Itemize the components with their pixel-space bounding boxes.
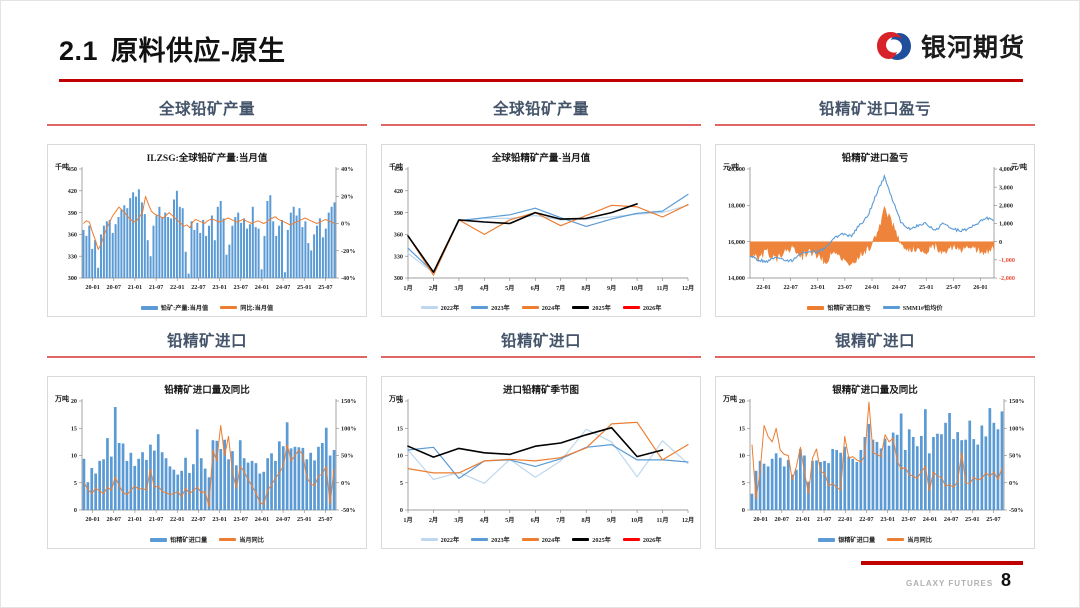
svg-text:25-01: 25-01 [297,516,311,523]
legend-item[interactable]: 2024年 [522,303,561,312]
svg-text:10: 10 [397,452,403,459]
footer-brand: GALAXY FUTURES [906,579,993,588]
panel-heading-underline [715,356,1035,358]
svg-text:100%: 100% [341,425,356,432]
svg-text:20: 20 [71,398,77,405]
chart-legend: 铅精矿进口盈亏SMM1#铅均价 [716,303,1034,312]
legend-swatch [572,538,589,540]
legend-item[interactable]: 2025年 [572,303,611,312]
svg-text:0%: 0% [1009,480,1018,487]
svg-text:20%: 20% [341,193,353,200]
legend-label: 2023年 [491,535,510,544]
svg-text:7月: 7月 [556,516,565,524]
legend-item[interactable]: 2023年 [471,535,510,544]
chart-title: 铅精矿进口盈亏 [716,150,1034,164]
panel-heading-underline [47,124,367,126]
legend-label: 2026年 [643,303,662,312]
svg-text:-20%: -20% [341,248,355,255]
chart-container[interactable]: 20,00018,00016,00014,0004,0003,0002,0001… [715,144,1035,317]
slide-header: 2.1原料供应-原生 银河期货 [1,1,1080,87]
svg-text:12月: 12月 [682,284,694,292]
chart-panel-4: 铅精矿进口20151050150%100%50%0%-50%20-0120-07… [47,329,367,549]
svg-text:2月: 2月 [429,516,438,524]
legend-label: 铅矿:产量:当月值 [161,303,208,312]
svg-text:9月: 9月 [607,516,616,524]
svg-text:23-01: 23-01 [880,516,894,523]
panel-heading-underline [381,124,701,126]
svg-text:11月: 11月 [657,284,669,292]
svg-text:330: 330 [394,253,403,260]
svg-text:420: 420 [394,188,403,195]
svg-text:0%: 0% [341,480,350,487]
svg-text:21-07: 21-07 [149,516,163,523]
svg-text:5月: 5月 [505,516,514,524]
y-axis-unit: 万吨 [723,394,737,404]
svg-text:24-01: 24-01 [255,516,269,523]
svg-text:5: 5 [400,480,403,487]
chart-panel-5: 铅精矿进口201510501月2月3月4月5月6月7月8月9月10月11月12月… [381,329,701,549]
svg-text:0: 0 [74,507,77,514]
svg-text:25-07: 25-07 [986,516,1000,523]
legend-item[interactable]: 2022年 [421,535,460,544]
svg-text:5月: 5月 [505,284,514,292]
legend-swatch [572,306,589,308]
svg-text:50%: 50% [1009,452,1021,459]
svg-text:6月: 6月 [531,284,540,292]
panel-heading: 全球铅矿产量 [381,97,701,124]
legend-label: 当月同比 [907,535,932,544]
svg-text:21-01: 21-01 [128,516,142,523]
svg-text:22-01: 22-01 [170,516,184,523]
chart-container[interactable]: 4504203903603303001月2月3月4月5月6月7月8月9月10月1… [381,144,701,317]
legend-item[interactable]: 铅矿:产量:当月值 [141,303,208,312]
legend-label: 当月同比 [239,535,264,544]
chart-container[interactable]: 20151050150%100%50%0%-50%20-0120-0721-01… [715,376,1035,549]
svg-text:390: 390 [68,209,77,216]
svg-text:1月: 1月 [403,516,412,524]
legend-item[interactable]: 铅精矿进口量 [150,535,207,544]
legend-label: 同比:当月值 [240,303,273,312]
legend-swatch [623,538,640,540]
legend-item[interactable]: 当月同比 [219,535,264,544]
page-number: 8 [1001,570,1011,591]
right-axis-unit: 元/吨 [1011,162,1027,172]
legend-swatch [522,538,539,540]
chart-panel-6: 银精矿进口20151050150%100%50%0%-50%20-0120-07… [715,329,1035,549]
section-number: 2.1 [59,36,98,66]
svg-text:20-01: 20-01 [85,516,99,523]
svg-text:50%: 50% [341,452,353,459]
svg-text:15: 15 [397,425,403,432]
legend-swatch [471,306,488,308]
svg-text:26-01: 26-01 [973,284,987,291]
legend-item[interactable]: 银精矿进口量 [818,535,875,544]
panel-heading-underline [381,356,701,358]
chart-panel-1: 全球铅矿产量45042039036033030040%20%0%-20%-40%… [47,97,367,317]
y-axis-unit: 万吨 [389,394,403,404]
svg-text:10: 10 [739,452,745,459]
svg-text:4月: 4月 [480,284,489,292]
chart-title: 进口铅精矿季节图 [382,382,700,396]
legend-swatch [807,306,824,310]
svg-text:300: 300 [394,275,403,282]
svg-text:24-01: 24-01 [865,284,879,291]
legend-item[interactable]: 2026年 [623,303,662,312]
panel-heading: 银精矿进口 [715,329,1035,356]
panel-heading: 全球铅矿产量 [47,97,367,124]
panel-heading: 铅精矿进口 [381,329,701,356]
svg-text:2,000: 2,000 [999,202,1013,209]
chart-legend: 铅精矿进口量当月同比 [48,535,366,544]
legend-label: 2023年 [491,303,510,312]
svg-text:-2,000: -2,000 [999,275,1015,282]
chart-legend: 2022年2023年2024年2025年2026年 [382,535,700,544]
legend-label: 2024年 [542,535,561,544]
svg-text:330: 330 [68,253,77,260]
svg-text:100%: 100% [1009,425,1024,432]
y-axis-unit: 千吨 [389,162,403,172]
svg-text:420: 420 [68,188,77,195]
svg-text:-40%: -40% [341,275,355,282]
panel-heading: 铅精矿进口 [47,329,367,356]
legend-label: 2025年 [592,535,611,544]
legend-item[interactable]: 当月同比 [887,535,932,544]
legend-item[interactable]: 2025年 [572,535,611,544]
chart-plot: 20,00018,00016,00014,0004,0003,0002,0001… [716,145,1034,316]
legend-item[interactable]: 2024年 [522,535,561,544]
legend-label: 2025年 [592,303,611,312]
footer-divider [861,561,1023,565]
legend-item[interactable]: 2022年 [421,303,460,312]
svg-text:300: 300 [68,275,77,282]
svg-text:2月: 2月 [429,284,438,292]
chart-title: 全球铅精矿产量-当月值 [382,150,700,164]
svg-text:-50%: -50% [341,507,355,514]
svg-text:23-01: 23-01 [811,284,825,291]
svg-text:5: 5 [742,480,745,487]
svg-text:25-07: 25-07 [946,284,960,291]
chart-legend: 铅矿:产量:当月值同比:当月值 [48,303,366,312]
y-axis-unit: 元/吨 [723,162,739,172]
svg-text:20-07: 20-07 [775,516,789,523]
svg-text:24-07: 24-07 [892,284,906,291]
svg-text:7月: 7月 [556,284,565,292]
svg-text:18,000: 18,000 [728,202,745,209]
panel-heading-underline [47,356,367,358]
chart-panel-2: 全球铅矿产量4504203903603303001月2月3月4月5月6月7月8月… [381,97,701,317]
legend-swatch [471,538,488,540]
svg-text:20-07: 20-07 [107,284,121,291]
svg-text:23-07: 23-07 [234,516,248,523]
svg-text:20-01: 20-01 [753,516,767,523]
legend-swatch [141,306,158,310]
chart-plot: 20151050150%100%50%0%-50%20-0120-0721-01… [48,377,366,548]
svg-text:150%: 150% [341,398,356,405]
legend-swatch [623,306,640,308]
galaxy-swirl-icon [876,31,912,61]
legend-label: 铅精矿进口盈亏 [827,303,870,312]
svg-text:22-07: 22-07 [191,516,205,523]
brand-logo: 银河期货 [876,28,1025,64]
svg-text:24-07: 24-07 [276,284,290,291]
svg-text:-50%: -50% [1009,507,1023,514]
legend-item[interactable]: 2026年 [623,535,662,544]
svg-text:15: 15 [739,425,745,432]
svg-text:9月: 9月 [607,284,616,292]
legend-label: 银精矿进口量 [838,535,875,544]
legend-swatch [150,538,167,542]
svg-text:0: 0 [400,507,403,514]
svg-text:22-07: 22-07 [783,284,797,291]
legend-swatch [220,306,237,308]
legend-label: 2026年 [643,535,662,544]
svg-text:3月: 3月 [454,284,463,292]
svg-text:8月: 8月 [582,284,591,292]
svg-text:25-07: 25-07 [318,516,332,523]
svg-text:4月: 4月 [480,516,489,524]
svg-text:24-01: 24-01 [255,284,269,291]
svg-text:20: 20 [739,398,745,405]
svg-text:3,000: 3,000 [999,184,1013,191]
section-title: 原料供应-原生 [111,36,286,66]
svg-text:22-01: 22-01 [838,516,852,523]
svg-text:20-07: 20-07 [107,516,121,523]
legend-swatch [818,538,835,542]
legend-label: SMM1#铅均价 [903,303,943,312]
svg-text:15: 15 [71,425,77,432]
svg-text:24-07: 24-07 [276,516,290,523]
page-title: 2.1原料供应-原生 [59,29,286,68]
svg-text:0: 0 [742,507,745,514]
y-axis-unit: 万吨 [55,394,69,404]
legend-swatch [421,538,438,540]
svg-text:23-07: 23-07 [234,284,248,291]
legend-item[interactable]: 铅精矿进口盈亏 [807,303,870,312]
panel-heading-underline [715,124,1035,126]
svg-text:25-01: 25-01 [297,284,311,291]
svg-text:23-07: 23-07 [838,284,852,291]
svg-text:25-01: 25-01 [965,516,979,523]
svg-text:21-07: 21-07 [817,516,831,523]
svg-text:6月: 6月 [531,516,540,524]
svg-text:23-07: 23-07 [902,516,916,523]
header-divider [59,79,1023,82]
chart-legend: 2022年2023年2024年2025年2026年 [382,303,700,312]
legend-label: 铅精矿进口量 [170,535,207,544]
svg-text:21-01: 21-01 [128,284,142,291]
svg-text:3月: 3月 [454,516,463,524]
svg-text:10: 10 [71,452,77,459]
chart-title: ILZSG:全球铅矿产量:当月值 [48,150,366,164]
svg-text:24-01: 24-01 [923,516,937,523]
chart-plot: 4504203903603303001月2月3月4月5月6月7月8月9月10月1… [382,145,700,316]
legend-label: 2022年 [441,535,460,544]
svg-text:21-07: 21-07 [149,284,163,291]
chart-container[interactable]: 45042039036033030040%20%0%-20%-40%20-012… [47,144,367,317]
svg-text:11月: 11月 [657,516,669,524]
svg-text:22-01: 22-01 [756,284,770,291]
svg-text:8月: 8月 [582,516,591,524]
legend-item[interactable]: 同比:当月值 [220,303,273,312]
svg-text:25-07: 25-07 [318,284,332,291]
chart-panel-3: 铅精矿进口盈亏20,00018,00016,00014,0004,0003,00… [715,97,1035,317]
svg-text:24-07: 24-07 [944,516,958,523]
chart-plot: 45042039036033030040%20%0%-20%-40%20-012… [48,145,366,316]
legend-item[interactable]: SMM1#铅均价 [883,303,943,312]
svg-text:22-01: 22-01 [170,284,184,291]
svg-text:21-01: 21-01 [796,516,810,523]
legend-swatch [887,538,904,540]
legend-swatch [522,306,539,308]
legend-swatch [421,306,438,308]
svg-text:1月: 1月 [403,284,412,292]
brand-name: 银河期货 [921,28,1025,64]
chart-container[interactable]: 20151050150%100%50%0%-50%20-0120-0721-01… [47,376,367,549]
svg-text:360: 360 [394,231,403,238]
svg-text:14,000: 14,000 [728,275,745,282]
svg-text:390: 390 [394,209,403,216]
legend-item[interactable]: 2023年 [471,303,510,312]
svg-text:0: 0 [999,238,1002,245]
svg-text:10月: 10月 [631,284,643,292]
svg-text:22-07: 22-07 [191,284,205,291]
legend-swatch [219,538,236,540]
legend-label: 2022年 [441,303,460,312]
chart-plot: 201510501月2月3月4月5月6月7月8月9月10月11月12月 [382,377,700,548]
svg-text:450: 450 [68,166,77,173]
svg-text:16,000: 16,000 [728,238,745,245]
legend-label: 2024年 [542,303,561,312]
svg-text:23-01: 23-01 [212,284,226,291]
y-axis-unit: 千吨 [55,162,69,172]
svg-text:20-01: 20-01 [85,284,99,291]
svg-text:5: 5 [74,480,77,487]
slide-page: 2.1原料供应-原生 银河期货 全球铅矿产量450420390360330300… [0,0,1080,608]
svg-text:12月: 12月 [682,516,694,524]
chart-title: 银精矿进口量及同比 [716,382,1034,396]
svg-text:25-01: 25-01 [919,284,933,291]
svg-text:10月: 10月 [631,516,643,524]
chart-title: 铅精矿进口量及同比 [48,382,366,396]
panel-heading: 铅精矿进口盈亏 [715,97,1035,124]
svg-text:0%: 0% [341,220,350,227]
charts-grid: 全球铅矿产量45042039036033030040%20%0%-20%-40%… [47,97,1035,549]
svg-text:22-07: 22-07 [859,516,873,523]
svg-text:40%: 40% [341,166,353,173]
chart-plot: 20151050150%100%50%0%-50%20-0120-0721-01… [716,377,1034,548]
chart-legend: 银精矿进口量当月同比 [716,535,1034,544]
svg-text:150%: 150% [1009,398,1024,405]
svg-text:1,000: 1,000 [999,220,1013,227]
svg-text:23-01: 23-01 [212,516,226,523]
svg-text:-1,000: -1,000 [999,257,1015,264]
legend-swatch [883,306,900,308]
chart-container[interactable]: 201510501月2月3月4月5月6月7月8月9月10月11月12月进口铅精矿… [381,376,701,549]
svg-text:360: 360 [68,231,77,238]
